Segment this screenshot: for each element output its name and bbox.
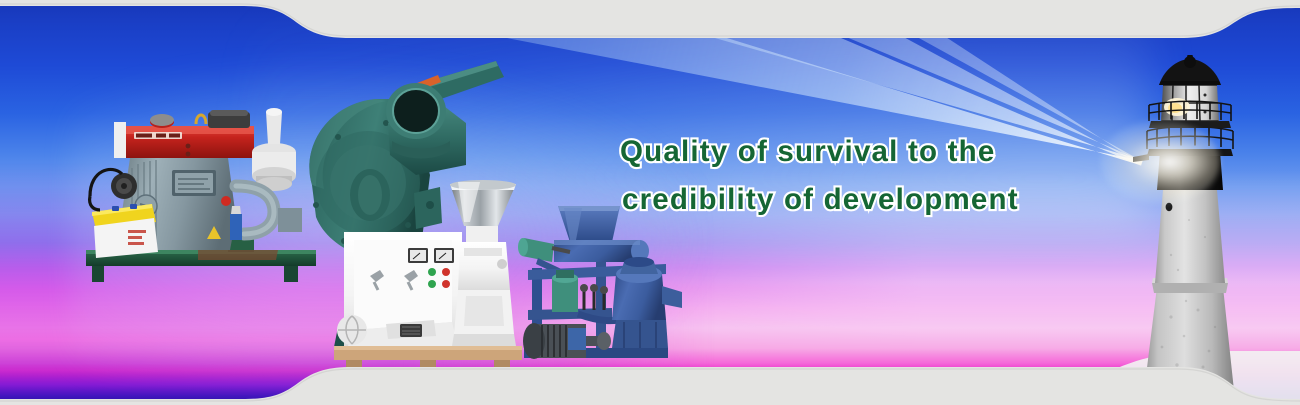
motor-terminal-box bbox=[568, 328, 586, 350]
stop-button bbox=[442, 268, 450, 276]
start-button bbox=[428, 268, 436, 276]
headline-line-1: Quality of survival to the bbox=[620, 128, 1090, 176]
hopper-neck bbox=[466, 226, 498, 242]
valve-handles bbox=[580, 284, 608, 310]
oil-bottle bbox=[230, 214, 242, 240]
pellet-mill bbox=[330, 178, 530, 374]
tank-end-cap bbox=[114, 122, 126, 158]
skid-leg-left bbox=[92, 266, 104, 282]
pellet-discharge bbox=[452, 334, 516, 346]
pallet-slats bbox=[346, 360, 510, 371]
diesel-engine bbox=[78, 100, 338, 290]
lantern-glow bbox=[1100, 120, 1220, 204]
extruder-discharge-chute bbox=[662, 286, 682, 308]
aux-button-red bbox=[442, 280, 450, 288]
lifting-eye bbox=[196, 115, 206, 124]
press-bolt bbox=[497, 259, 507, 269]
headline: Quality of survival to the credibility o… bbox=[620, 128, 1090, 224]
aux-button-green bbox=[428, 280, 436, 288]
side-cover bbox=[278, 208, 302, 232]
exhaust-stack bbox=[266, 112, 282, 144]
skid-leg-right bbox=[284, 266, 298, 282]
headline-line-2: credibility of development bbox=[622, 176, 1090, 224]
promo-banner: Quality of survival to the credibility o… bbox=[0, 0, 1300, 405]
red-knob bbox=[221, 196, 231, 206]
pump-motor bbox=[552, 278, 578, 312]
skid-patch bbox=[198, 250, 278, 260]
